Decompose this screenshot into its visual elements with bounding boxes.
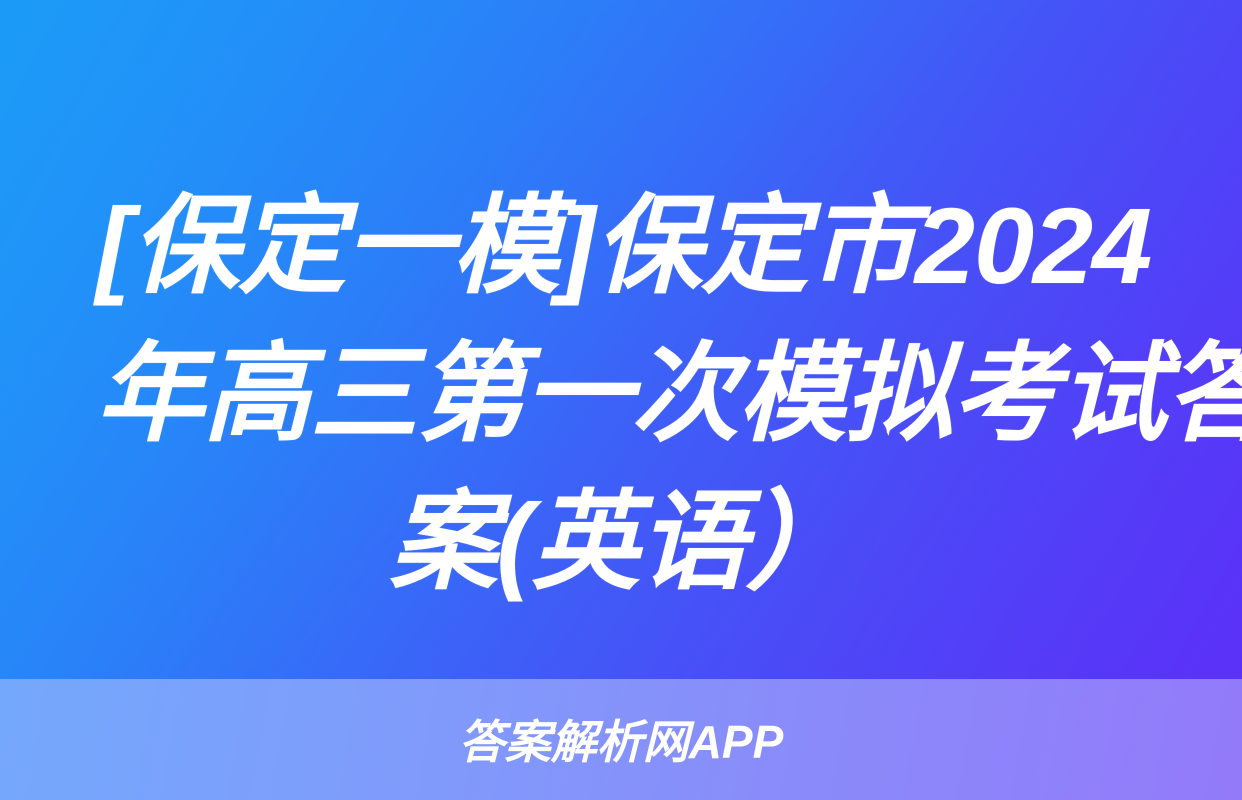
title-line-3: 案(英语） bbox=[96, 468, 1146, 616]
app-brand-label: 答案解析网APP bbox=[459, 716, 784, 768]
share-card: [保定一模]保定市2024 年高三第一次模拟考试答 案(英语） 答案解析网APP bbox=[0, 0, 1242, 800]
title-line-2: 年高三第一次模拟考试答 bbox=[96, 320, 1146, 468]
footer-brand-band: 答案解析网APP bbox=[0, 679, 1242, 800]
title-line-1: [保定一模]保定市2024 bbox=[96, 172, 1146, 320]
page-title: [保定一模]保定市2024 年高三第一次模拟考试答 案(英语） bbox=[0, 172, 1242, 616]
